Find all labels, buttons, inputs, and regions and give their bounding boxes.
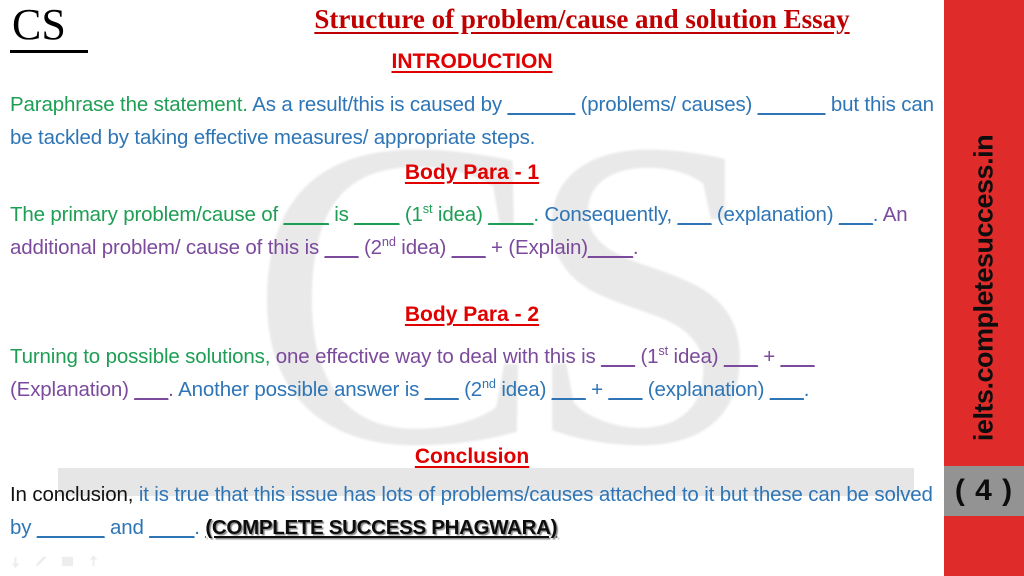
fill-in-blank: ______ [37, 516, 105, 539]
section-heading-introduction: INTRODUCTION [0, 50, 944, 74]
fill-in-blank: ______ [758, 93, 826, 116]
section-heading-conclusion: Conclusion [0, 445, 944, 469]
text-run: (2 [459, 378, 482, 401]
text-run: st [658, 343, 668, 358]
text-run: (1 [635, 345, 658, 368]
page-number-box: ( 4 ) [944, 466, 1024, 516]
text-run: idea) [432, 203, 488, 226]
text-run: . [804, 378, 810, 401]
text-run: (Explanation) [10, 378, 134, 401]
mini-toolbar[interactable] [8, 554, 101, 569]
text-run: (explanation) [711, 203, 839, 226]
section-heading-body-para-2: Body Para - 2 [0, 303, 944, 327]
fill-in-blank: ___ [770, 378, 804, 401]
right-brand-sidebar: ielts.completesuccess.in ( 4 ) [944, 0, 1024, 576]
text-run: idea) [396, 236, 452, 259]
text-run: In conclusion, [10, 483, 139, 506]
text-run: is [329, 203, 355, 226]
paragraph-body-para-2: Turning to possible solutions, one effec… [10, 340, 934, 406]
text-run: st [423, 201, 433, 216]
fill-in-blank: ____ [149, 516, 194, 539]
text-run: (2 [358, 236, 381, 259]
text-run: nd [382, 234, 396, 249]
pencil-icon[interactable] [34, 554, 49, 569]
text-run: + (Explain) [485, 236, 587, 259]
text-run: The primary problem/cause of [10, 203, 284, 226]
text-run: nd [482, 376, 496, 391]
brand-credit: (COMPLETE SUCCESS PHAGWARA) [205, 516, 557, 539]
fill-in-blank: ___ [839, 203, 873, 226]
text-run: Consequently, [544, 203, 677, 226]
text-run: (explanation) [642, 378, 770, 401]
text-run: + [586, 378, 609, 401]
text-run: one effective way to deal with this is [276, 345, 601, 368]
fill-in-blank: ____ [284, 203, 329, 226]
text-run: . [873, 203, 883, 226]
fill-in-blank: ____ [354, 203, 399, 226]
page-number: ( 4 ) [955, 474, 1013, 508]
fill-in-blank: ___ [608, 378, 642, 401]
fill-in-blank: ___ [781, 345, 815, 368]
text-run: . [533, 203, 544, 226]
paragraph-conclusion: In conclusion, it is true that this issu… [10, 478, 934, 544]
text-run: As a result/this is caused by [252, 93, 507, 116]
text-run: (problems/ causes) [575, 93, 758, 116]
slide-content: CS Structure of problem/cause and soluti… [0, 0, 944, 576]
text-run: (1 [399, 203, 422, 226]
text-run: and [104, 516, 149, 539]
fill-in-blank: ____ [488, 203, 533, 226]
section-heading-body-para-1: Body Para - 1 [0, 161, 944, 185]
text-run: . [194, 516, 205, 539]
text-run: . [633, 236, 639, 259]
page-title: Structure of problem/cause and solution … [232, 4, 932, 35]
fill-in-blank: ___ [552, 378, 586, 401]
brand-url-label: ielts.completesuccess.in [969, 135, 1000, 441]
fill-in-blank: ____ [588, 236, 633, 259]
text-run: Paraphrase the statement. [10, 93, 252, 116]
fill-in-blank: ___ [325, 236, 359, 259]
text-run: + [758, 345, 781, 368]
text-run: idea) [496, 378, 552, 401]
fill-in-blank: ___ [678, 203, 712, 226]
text-run: . [168, 378, 178, 401]
fill-in-blank: ___ [425, 378, 459, 401]
thumbs-up-icon[interactable] [86, 554, 101, 569]
slide-canvas: CS CS Structure of problem/cause and sol… [0, 0, 1024, 576]
fill-in-blank: ___ [601, 345, 635, 368]
fill-in-blank: ___ [724, 345, 758, 368]
grid-icon[interactable] [60, 554, 75, 569]
paragraph-body-para-1: The primary problem/cause of ____ is ___… [10, 198, 934, 264]
cs-logo: CS [12, 2, 66, 48]
thumbs-down-icon[interactable] [8, 554, 23, 569]
paragraph-introduction: Paraphrase the statement. As a result/th… [10, 88, 934, 154]
fill-in-blank: ___ [452, 236, 486, 259]
text-run: Another possible answer is [178, 378, 425, 401]
text-run: idea) [668, 345, 724, 368]
fill-in-blank: ______ [508, 93, 576, 116]
fill-in-blank: ___ [134, 378, 168, 401]
text-run: Turning to possible solutions, [10, 345, 276, 368]
